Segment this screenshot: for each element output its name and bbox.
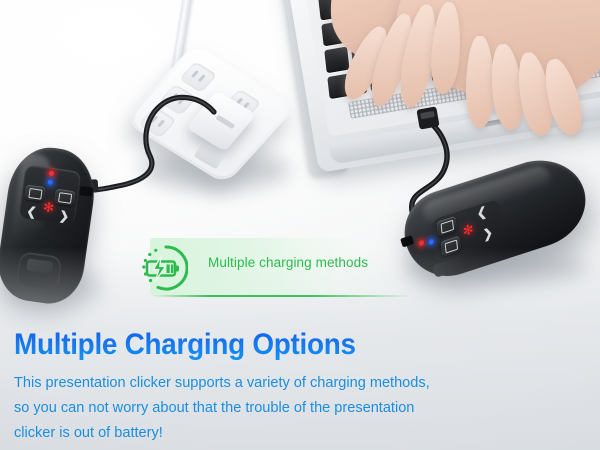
product-banner: ✻ ❮ ❯ ✻ ❮ [0,0,600,450]
battery-charging-icon [136,242,188,294]
screen-icon [440,219,453,233]
usb-port-icon [215,115,235,129]
usb-receiver [26,258,53,274]
feature-badge-label: Multiple charging methods [208,255,368,270]
laser-icon[interactable]: ✻ [462,222,474,239]
presenter-left-button-pad: ✻ ❮ ❯ [18,164,81,225]
button-screen-blank[interactable] [24,184,46,202]
presenter-left-receiver-slot [16,251,62,291]
body-copy: This presentation clicker supports a var… [14,370,572,445]
body-line: clicker is out of battery! [14,420,572,445]
body-line: so you can not worry about that the trou… [14,395,572,420]
led-red-indicator [419,240,424,247]
button-next-arrow[interactable]: ❯ [482,226,493,241]
display-icon [444,239,457,253]
page-title: Multiple Charging Options [14,330,356,360]
feature-badge: Multiple charging methods [130,238,406,298]
button-prev-arrow[interactable]: ❮ [476,205,487,220]
button-screen-blank[interactable] [436,216,457,237]
laser-icon[interactable]: ✻ [42,200,55,214]
finger [466,36,494,128]
button-next-arrow[interactable]: ❯ [58,209,70,222]
feature-badge-underline [152,295,412,297]
screen-icon [28,187,42,199]
led-red-indicator [49,171,55,177]
body-line: This presentation clicker supports a var… [14,370,572,395]
power-socket [179,61,217,93]
led-blue-indicator [429,239,434,246]
power-socket [159,84,197,116]
button-page-display[interactable] [441,235,462,256]
button-page-display[interactable] [54,189,76,207]
presenter-left-usb-port [79,186,93,197]
button-prev-arrow[interactable]: ❮ [26,205,38,218]
display-icon [58,192,72,204]
led-blue-indicator [47,179,53,185]
power-socket [138,106,176,138]
